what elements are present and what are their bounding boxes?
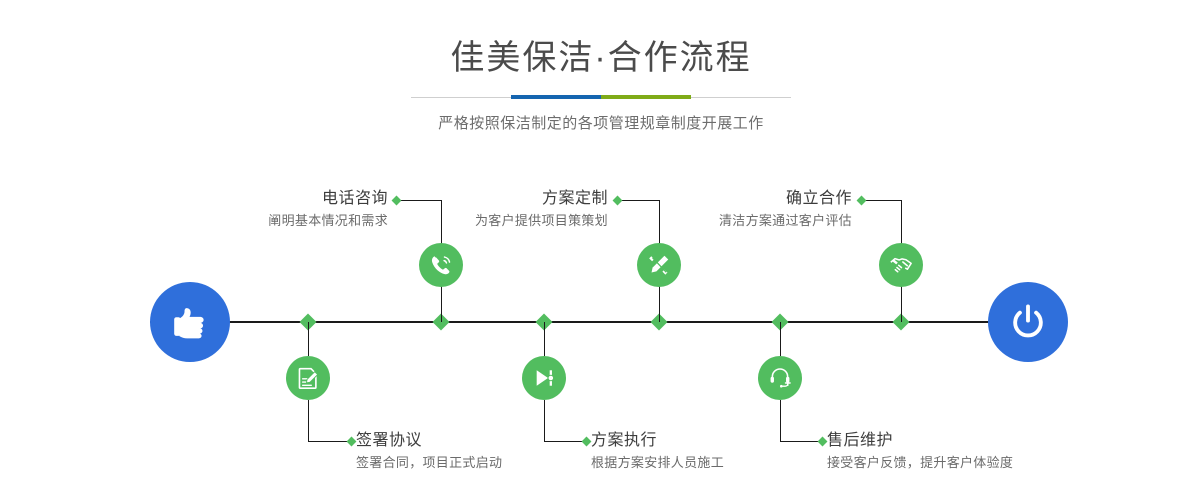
page-header: 佳美保洁·合作流程 严格按照保洁制定的各项管理规章制度开展工作 [0, 0, 1202, 134]
timeline-start-badge [150, 282, 230, 362]
label-marker-2 [347, 437, 357, 447]
timeline-axis [150, 321, 1056, 323]
step-icon-6 [758, 356, 802, 400]
connector-elbow-vertical-2 [308, 400, 309, 442]
thumbs-up-pointing-hand-icon [167, 299, 213, 345]
play-execute-icon [531, 365, 557, 391]
label-marker-5 [857, 196, 867, 206]
handshake-icon [888, 252, 914, 278]
title-divider [411, 92, 791, 104]
page-subtitle: 严格按照保洁制定的各项管理规章制度开展工作 [0, 104, 1202, 134]
connector-horizontal-2 [308, 441, 351, 442]
step-label-1: 电话咨询 阐明基本情况和需求 [140, 188, 388, 232]
step-title-5: 确立合作 [604, 188, 852, 210]
step-label-5: 确立合作 清洁方案通过客户评估 [604, 188, 852, 232]
connector-horizontal-6 [780, 441, 822, 442]
connector-elbow-vertical-4 [544, 400, 545, 442]
step-desc-4: 根据方案安排人员施工 [591, 452, 851, 474]
power-icon [1006, 300, 1050, 344]
page-title: 佳美保洁·合作流程 [0, 0, 1202, 78]
step-title-1: 电话咨询 [140, 188, 388, 210]
flow-diagram-page: 佳美保洁·合作流程 严格按照保洁制定的各项管理规章制度开展工作 [0, 0, 1202, 502]
pen-ruler-design-icon [646, 252, 672, 278]
connector-elbow-vertical-6 [780, 400, 781, 442]
connector-horizontal-4 [544, 441, 586, 442]
phone-call-icon [428, 252, 454, 278]
step-desc-5: 清洁方案通过客户评估 [604, 210, 852, 232]
step-label-4: 方案执行 根据方案安排人员施工 [591, 430, 851, 474]
step-title-6: 售后维护 [827, 430, 1107, 452]
step-desc-6: 接受客户反馈，提升客户体验度 [827, 452, 1107, 474]
timeline-end-badge [988, 282, 1068, 362]
step-label-6: 售后维护 接受客户反馈，提升客户体验度 [827, 430, 1107, 474]
divider-blue-segment [511, 95, 601, 99]
connector-vertical-6 [780, 322, 781, 356]
customer-service-headset-icon [767, 365, 793, 391]
step-desc-3: 为客户提供项目策策划 [360, 210, 608, 232]
step-label-3: 方案定制 为客户提供项目策策划 [360, 188, 608, 232]
connector-vertical-4 [544, 322, 545, 356]
step-icon-1 [419, 243, 463, 287]
step-desc-1: 阐明基本情况和需求 [140, 210, 388, 232]
connector-vertical-2 [308, 322, 309, 356]
step-label-2: 签署协议 签署合同，项目正式启动 [356, 430, 616, 474]
step-desc-2: 签署合同，项目正式启动 [356, 452, 616, 474]
step-icon-2 [286, 356, 330, 400]
step-icon-3 [637, 243, 681, 287]
step-icon-4 [522, 356, 566, 400]
step-icon-5 [879, 243, 923, 287]
document-sign-icon [295, 365, 321, 391]
connector-elbow-vertical-5 [901, 200, 902, 245]
divider-green-segment [601, 95, 691, 99]
connector-horizontal-5 [861, 200, 902, 201]
step-title-3: 方案定制 [360, 188, 608, 210]
